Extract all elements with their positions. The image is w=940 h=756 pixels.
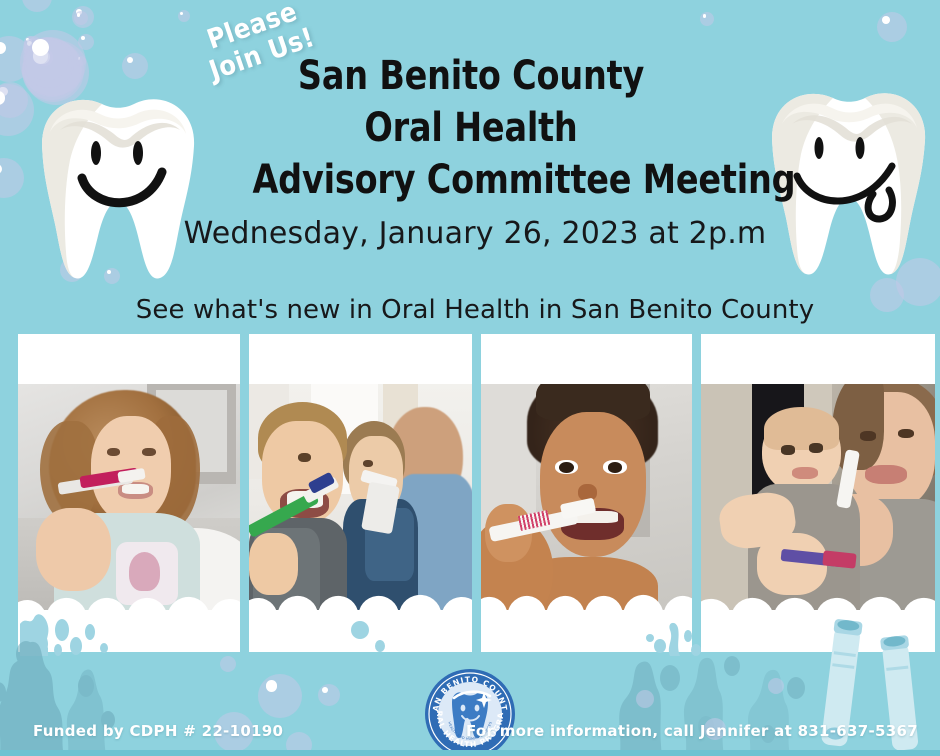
bubble-decoration	[318, 684, 340, 706]
bubble-decoration	[220, 656, 236, 672]
title-line-1: San Benito County	[252, 50, 689, 102]
bubble-decoration	[24, 36, 42, 54]
funding-statement: Funded by CDPH # 22-10190	[33, 722, 283, 740]
smiling-tooth-mascot	[30, 86, 205, 281]
bubble-decoration	[877, 12, 907, 42]
page-title: San Benito County Oral Health Advisory C…	[252, 50, 689, 206]
photo-panel-4	[701, 334, 935, 652]
photo-panel-3	[481, 334, 692, 652]
bubble-decoration	[23, 38, 78, 93]
photo-panel-1	[18, 334, 240, 652]
photo-panel-2	[249, 334, 472, 652]
title-line-2: Oral Health	[252, 102, 689, 154]
bubble-decoration	[0, 82, 28, 118]
photo-strip	[0, 334, 940, 652]
bubble-decoration	[24, 37, 76, 89]
bubble-decoration	[636, 690, 654, 708]
bubble-decoration	[23, 38, 43, 58]
bubble-decoration	[74, 11, 88, 25]
title-line-3: Advisory Committee Meeting	[252, 154, 689, 206]
photo-children-brushing-together	[249, 368, 472, 610]
bubble-decoration	[24, 38, 74, 88]
bubble-decoration	[0, 36, 32, 82]
contact-info: For more information, call Jennifer at 8…	[466, 722, 918, 740]
event-datetime: Wednesday, January 26, 2023 at 2p.m	[130, 216, 820, 251]
bubble-decoration	[0, 84, 34, 136]
bubble-decoration	[0, 158, 24, 198]
flyer-canvas: Please Join Us! San Benito County Oral H…	[0, 0, 940, 756]
bubble-decoration	[768, 678, 784, 694]
bubble-decoration	[122, 53, 148, 79]
bubble-decoration	[78, 34, 94, 50]
bottom-divider	[0, 750, 940, 756]
photo-girl-brushing-teeth	[18, 368, 240, 610]
event-tagline: See what's new in Oral Health in San Ben…	[60, 295, 890, 325]
bubble-decoration	[23, 38, 61, 76]
bubble-decoration	[24, 36, 36, 48]
bubble-decoration	[22, 0, 52, 12]
photo-mother-and-baby-brushing	[701, 368, 935, 610]
bubble-decoration	[72, 6, 94, 28]
bubble-decoration	[24, 38, 66, 80]
bubble-decoration	[178, 10, 190, 22]
bubble-decoration	[25, 37, 69, 81]
photo-boy-brushing-teeth	[481, 368, 692, 610]
oral-health-program-logo: SAN BENITO COUNTY ORAL HEALTH PROGRAM HE…	[424, 668, 516, 756]
bubble-decoration	[258, 674, 302, 718]
bubble-decoration	[76, 56, 86, 66]
bubble-decoration	[24, 40, 72, 88]
bubble-decoration	[700, 12, 714, 26]
